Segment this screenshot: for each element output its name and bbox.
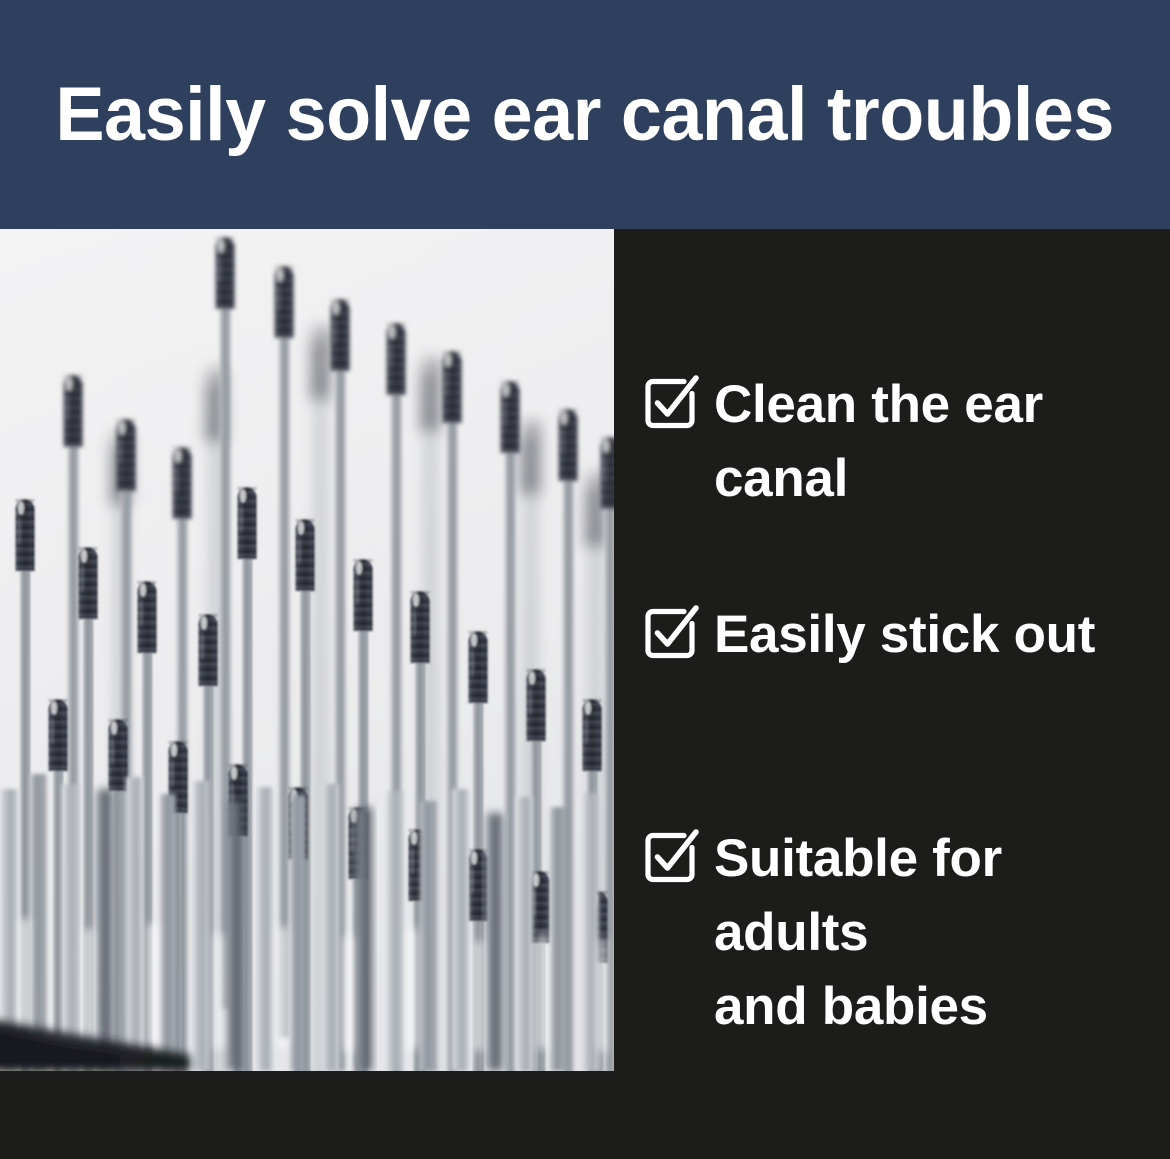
feature-item-clean-ear-canal: Clean the ear canal	[640, 368, 1170, 516]
feature-item-suitable-for-adults-and-babies: Suitable for adults and babies	[640, 822, 1170, 1044]
page-title: Easily solve ear canal troubles	[56, 77, 1115, 153]
feature-label: Suitable for adults and babies	[714, 822, 1170, 1044]
feature-panel: Clean the ear canal Easily stick out	[614, 229, 1170, 1159]
feature-list: Clean the ear canal Easily stick out	[640, 229, 1170, 1159]
feature-label: Clean the ear canal	[714, 368, 1170, 516]
product-feature-poster: Easily solve ear canal troubles	[0, 0, 1170, 1159]
checkbox-checked-icon	[640, 824, 702, 886]
checkbox-checked-icon	[640, 600, 702, 662]
product-photo	[0, 229, 614, 1071]
feature-item-easily-stick-out: Easily stick out	[640, 598, 1095, 672]
feature-label: Easily stick out	[714, 598, 1095, 672]
bottom-strip	[0, 1071, 614, 1159]
checkbox-checked-icon	[640, 370, 702, 432]
product-photo-illustration	[0, 229, 614, 1071]
header-banner: Easily solve ear canal troubles	[0, 0, 1170, 229]
